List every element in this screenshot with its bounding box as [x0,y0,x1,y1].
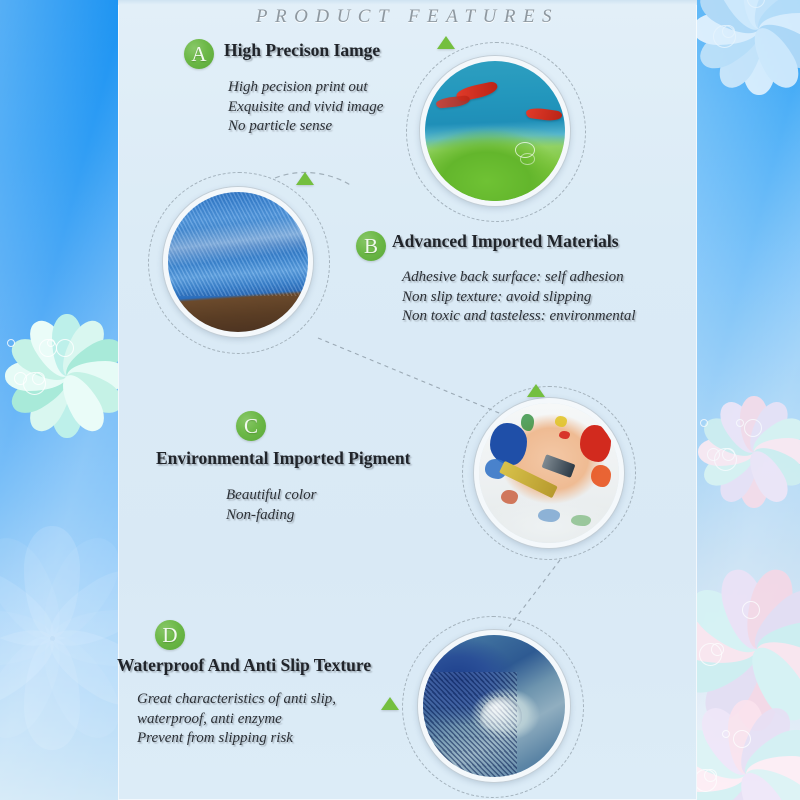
flower-doodle-icon [733,730,751,748]
flower-doodle-icon [700,419,708,427]
feature-lines-d: Great characteristics of anti slip, wate… [137,690,336,749]
page-title: PRODUCT FEATURES [118,6,697,28]
feature-title-b: Advanced Imported Materials [392,231,619,252]
photo-blue-fabric [163,187,313,337]
photo-frame-c [462,386,634,558]
photo-image-d [423,635,565,777]
flower-doodle-icon [56,339,74,357]
flower-doodle-icon [39,339,57,357]
decorative-flower-right-mid [690,388,800,516]
arrow-to-photo-c [527,384,545,397]
feature-badge-d: D [155,620,185,650]
flower-doodle-icon [736,419,744,427]
photo-image-a [425,61,565,201]
photo-image-c [479,403,619,543]
feature-lines-b: Adhesive back surface: self adhesion Non… [402,268,636,327]
feature-lines-a: High pecision print out Exquisite and vi… [228,78,383,137]
arrow-to-photo-d [381,697,399,710]
photo-baby-painting [474,398,624,548]
flower-doodle-icon [707,448,720,461]
photo-koi-pond [420,56,570,206]
decorative-flower-right-top [684,0,800,104]
feature-title-a: High Precison Iamge [224,40,380,61]
arrow-to-photo-b [296,172,314,185]
right-decorative-band [696,0,800,800]
feature-lines-c: Beautiful color Non-fading [226,486,316,525]
feature-line: Non-fading [226,506,316,526]
feature-line: No particle sense [228,117,383,137]
photo-frame-d [402,616,582,796]
feature-line: Great characteristics of anti slip, [137,690,336,710]
feature-title-d: Waterproof And Anti Slip Texture [117,655,371,676]
flower-doodle-icon [744,419,762,437]
feature-line: Non slip texture: avoid slipping [402,288,636,308]
flower-doodle-icon [742,601,760,619]
feature-line: Beautiful color [226,486,316,506]
feature-badge-b: B [356,231,386,261]
panel-top-edge [118,0,697,5]
product-features-infographic: PRODUCT FEATURES A High Precison Iamge H… [0,0,800,800]
flower-doodle-icon [694,769,717,792]
feature-badge-c: C [236,411,266,441]
photo-frame-a [406,42,584,220]
feature-title-c: Environmental Imported Pigment [156,448,410,469]
feature-line: Non toxic and tasteless: environmental [402,307,636,327]
feature-line: High pecision print out [228,78,383,98]
photo-frame-b [148,172,328,352]
feature-line: Adhesive back surface: self adhesion [402,268,636,288]
feature-line: Prevent from slipping risk [137,729,336,749]
feature-line: waterproof, anti enzyme [137,710,336,730]
left-decorative-band [0,0,118,800]
photo-image-b [168,192,308,332]
flower-doodle-icon [713,25,736,48]
feature-badge-a: A [184,39,214,69]
feature-line: Exquisite and vivid image [228,98,383,118]
arrow-to-photo-a [437,36,455,49]
photo-waterproof-texture [418,630,570,782]
